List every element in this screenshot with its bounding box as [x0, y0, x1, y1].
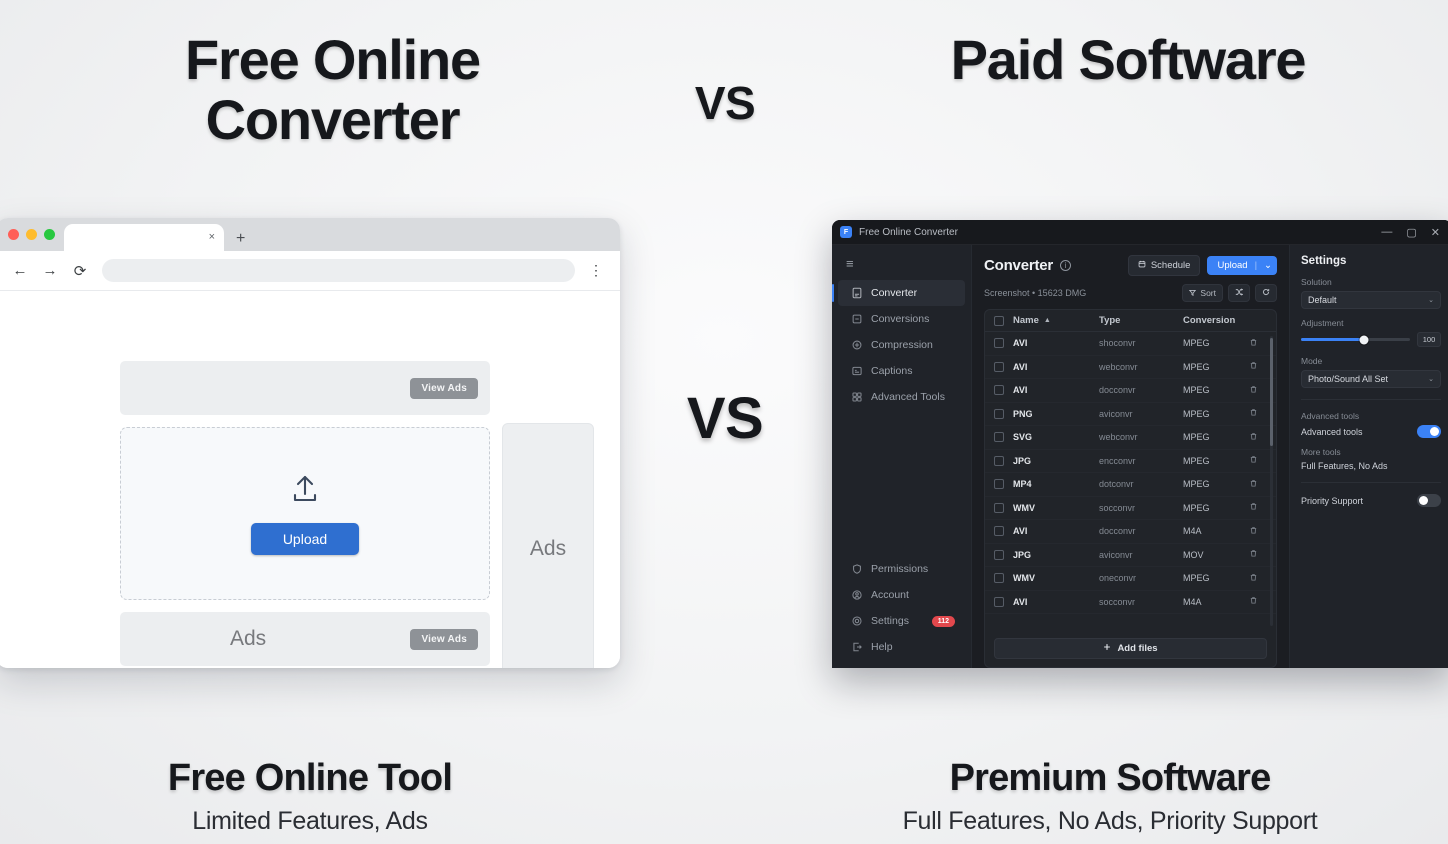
- caption-left: Free Online Tool Limited Features, Ads: [50, 757, 570, 836]
- minimize-icon[interactable]: —: [1381, 226, 1392, 239]
- button-divider: |: [1255, 260, 1257, 271]
- features-section-label: More tools: [1301, 447, 1441, 457]
- sidebar-item-conversions[interactable]: Conversions: [838, 306, 965, 332]
- cell-conversion: MPEG: [1183, 573, 1249, 583]
- settings-badge: 112: [932, 616, 955, 627]
- compress-icon: [850, 339, 863, 352]
- solution-label: Solution: [1301, 277, 1441, 287]
- shuffle-button[interactable]: [1228, 284, 1250, 302]
- sidebar-spacer: [832, 410, 971, 556]
- advanced-tools-toggle[interactable]: [1417, 425, 1441, 438]
- caption-right-title: Premium Software: [790, 757, 1430, 801]
- headline-right: Paid Software: [848, 30, 1408, 90]
- back-icon[interactable]: ←: [12, 262, 28, 279]
- column-header-conversion[interactable]: Conversion: [1183, 315, 1249, 326]
- cell-type: webconvr: [1099, 362, 1183, 372]
- trash-icon[interactable]: [1249, 338, 1267, 349]
- row-checkbox[interactable]: [994, 550, 1004, 560]
- new-tab-icon[interactable]: +: [236, 231, 245, 247]
- trash-icon[interactable]: [1249, 385, 1267, 396]
- sidebar-item-label: Compression: [871, 339, 933, 351]
- refresh-icon: [1262, 288, 1270, 298]
- chevron-down-icon: ⌄: [1428, 375, 1434, 383]
- column-header-name[interactable]: Name ▲: [1013, 315, 1099, 326]
- cell-name: AVI: [1013, 385, 1099, 395]
- cell-type: dotconvr: [1099, 479, 1183, 489]
- table-row[interactable]: JPGaviconvrMOV: [985, 544, 1276, 568]
- breadcrumb-row: Screenshot • 15623 DMG Sort: [972, 284, 1289, 309]
- caption-right-subtitle: Full Features, No Ads, Priority Support: [790, 807, 1430, 836]
- cell-name: WMV: [1013, 573, 1099, 583]
- app-window-title: Free Online Converter: [859, 227, 1374, 238]
- sidebar-item-label: Captions: [871, 365, 912, 377]
- cell-conversion: MPEG: [1183, 385, 1249, 395]
- table-row[interactable]: PNGaviconvrMPEG: [985, 403, 1276, 427]
- cell-conversion: MPEG: [1183, 456, 1249, 466]
- trash-icon[interactable]: [1249, 479, 1267, 490]
- table-row[interactable]: MP4dotconvrMPEG: [985, 473, 1276, 497]
- cell-name: WMV: [1013, 503, 1099, 513]
- cell-type: webconvr: [1099, 432, 1183, 442]
- cell-type: socconvr: [1099, 503, 1183, 513]
- table-row[interactable]: JPGencconvrMPEG: [985, 450, 1276, 474]
- row-checkbox[interactable]: [994, 409, 1004, 419]
- sidebar-item-label: Settings: [871, 615, 909, 627]
- cell-type: aviconvr: [1099, 409, 1183, 419]
- cell-conversion: MPEG: [1183, 338, 1249, 348]
- settings-title: Settings: [1301, 255, 1441, 267]
- sidebar-item-label: Permissions: [871, 563, 928, 575]
- headline-row: Free Online Converter VS Paid Software: [0, 0, 1448, 210]
- table-row[interactable]: SVGwebconvrMPEG: [985, 426, 1276, 450]
- trash-icon[interactable]: [1249, 432, 1267, 443]
- cell-type: socconvr: [1099, 597, 1183, 607]
- browser-tab[interactable]: ×: [64, 224, 224, 251]
- toggle-thumb: [1430, 427, 1439, 436]
- cell-name: JPG: [1013, 456, 1099, 466]
- settings-divider: [1301, 399, 1441, 400]
- row-checkbox[interactable]: [994, 338, 1004, 348]
- adjustment-label: Adjustment: [1301, 318, 1441, 328]
- table-row[interactable]: AVIdocconvrM4A: [985, 520, 1276, 544]
- sort-button-label: Sort: [1200, 288, 1216, 298]
- shield-icon: [850, 563, 863, 576]
- sidebar-item-compression[interactable]: Compression: [838, 332, 965, 358]
- upload-button[interactable]: Upload | ⌄: [1207, 256, 1277, 275]
- adjustment-field: Adjustment 100: [1301, 318, 1441, 347]
- app-sidebar: ≡ Converter Conversions: [832, 245, 972, 668]
- row-checkbox[interactable]: [994, 456, 1004, 466]
- adjustment-slider[interactable]: [1301, 338, 1410, 341]
- cell-name: MP4: [1013, 479, 1099, 489]
- vs-label-middle: VS: [640, 385, 810, 452]
- forward-icon[interactable]: →: [42, 262, 58, 279]
- cell-name: AVI: [1013, 597, 1099, 607]
- browser-page: View Ads Upload Ads View Ads Ads: [0, 291, 620, 668]
- cell-type: docconvr: [1099, 526, 1183, 536]
- mid-ad-banner: Ads View Ads: [120, 612, 490, 666]
- sidebar-item-help[interactable]: Help: [838, 634, 965, 660]
- sort-button[interactable]: Sort: [1182, 284, 1223, 302]
- filter-icon: [1189, 288, 1196, 298]
- reload-icon[interactable]: ⟳: [72, 262, 88, 280]
- sidebar-item-label: Conversions: [871, 313, 929, 325]
- advanced-tools-section: Advanced tools Advanced tools: [1301, 411, 1441, 438]
- table-rows: AVIshoconvrMPEGAVIwebconvrMPEGAVIdocconv…: [985, 332, 1276, 631]
- cell-name: SVG: [1013, 432, 1099, 442]
- mode-label: Mode: [1301, 356, 1441, 366]
- upload-button[interactable]: Upload: [251, 523, 359, 555]
- cell-conversion: M4A: [1183, 526, 1249, 536]
- side-ad-panel: Ads: [502, 423, 594, 668]
- cell-type: oneconvr: [1099, 573, 1183, 583]
- sidebar-item-label: Advanced Tools: [871, 391, 945, 403]
- hamburger-menu-icon[interactable]: ≡: [832, 252, 971, 280]
- cell-type: encconvr: [1099, 456, 1183, 466]
- toggle-thumb: [1419, 496, 1428, 505]
- sidebar-item-advanced-tools[interactable]: Advanced Tools: [838, 384, 965, 410]
- advanced-tools-label: Advanced tools: [1301, 427, 1363, 437]
- trash-icon[interactable]: [1249, 596, 1267, 607]
- row-checkbox[interactable]: [994, 385, 1004, 395]
- mode-value: Photo/Sound All Set: [1308, 374, 1388, 384]
- file-convert-icon: [850, 287, 863, 300]
- trash-icon[interactable]: [1249, 408, 1267, 419]
- sidebar-item-converter[interactable]: Converter: [838, 280, 965, 306]
- cell-name: PNG: [1013, 409, 1099, 419]
- maximize-icon[interactable]: ▢: [1406, 226, 1416, 239]
- cell-conversion: MOV: [1183, 550, 1249, 560]
- features-section: More tools Full Features, No Ads: [1301, 447, 1441, 471]
- grid-tools-icon: [850, 391, 863, 404]
- cell-conversion: M4A: [1183, 597, 1249, 607]
- sidebar-item-permissions[interactable]: Permissions: [838, 556, 965, 582]
- cell-conversion: MPEG: [1183, 409, 1249, 419]
- desktop-app-window: F Free Online Converter — ▢ ✕ ≡ Converte…: [832, 220, 1448, 668]
- headline-left: Free Online Converter: [60, 30, 605, 150]
- browser-toolbar: ← → ⟳ ⋮: [0, 251, 620, 291]
- table-row[interactable]: AVIwebconvrMPEG: [985, 356, 1276, 380]
- sidebar-item-captions[interactable]: Captions: [838, 358, 965, 384]
- cell-name: AVI: [1013, 338, 1099, 348]
- mid-ad-label: Ads: [230, 627, 266, 651]
- files-table: Name ▲ Type Conversion AVIshoconvrMPEGAV…: [984, 309, 1277, 668]
- trash-icon[interactable]: [1249, 573, 1267, 584]
- mid-ad-button[interactable]: View Ads: [410, 629, 478, 650]
- mode-field: Mode Photo/Sound All Set ⌄: [1301, 356, 1441, 388]
- trash-icon[interactable]: [1249, 502, 1267, 513]
- browser-menu-icon[interactable]: ⋮: [589, 262, 604, 279]
- table-row[interactable]: AVIdocconvrMPEG: [985, 379, 1276, 403]
- cell-type: shoconvr: [1099, 338, 1183, 348]
- adjustment-value[interactable]: 100: [1417, 332, 1441, 347]
- row-checkbox[interactable]: [994, 479, 1004, 489]
- refresh-button[interactable]: [1255, 284, 1277, 302]
- schedule-button-label: Schedule: [1151, 260, 1191, 271]
- app-body: ≡ Converter Conversions: [832, 245, 1448, 668]
- page-main-column: View Ads Upload Ads View Ads: [120, 361, 490, 668]
- chevron-down-icon[interactable]: ⌄: [1264, 260, 1272, 271]
- upload-button-label: Upload: [1217, 260, 1247, 271]
- address-bar[interactable]: [102, 259, 575, 282]
- calendar-icon: [1138, 260, 1146, 271]
- mode-select[interactable]: Photo/Sound All Set ⌄: [1301, 370, 1441, 388]
- priority-support-label: Priority Support: [1301, 496, 1363, 506]
- row-checkbox[interactable]: [994, 432, 1004, 442]
- add-files-label: Add files: [1117, 643, 1157, 654]
- solution-field: Solution Default ⌄: [1301, 277, 1441, 309]
- table-row[interactable]: AVIshoconvrMPEG: [985, 332, 1276, 356]
- sidebar-item-settings[interactable]: Settings 112: [838, 608, 965, 634]
- add-files-button[interactable]: Add files: [994, 638, 1267, 659]
- chevron-down-icon: ⌄: [1428, 296, 1434, 304]
- cell-conversion: MPEG: [1183, 503, 1249, 513]
- sidebar-item-label: Account: [871, 589, 909, 601]
- advanced-tools-row: Advanced tools: [1301, 425, 1441, 438]
- sidebar-item-label: Converter: [871, 287, 917, 299]
- trash-icon[interactable]: [1249, 549, 1267, 560]
- close-icon[interactable]: ✕: [1431, 226, 1440, 239]
- app-logo-icon: F: [840, 226, 852, 238]
- solution-value: Default: [1308, 295, 1337, 305]
- browser-window: × + ← → ⟳ ⋮ View Ads Upload: [0, 218, 620, 668]
- solution-select[interactable]: Default ⌄: [1301, 291, 1441, 309]
- row-checkbox[interactable]: [994, 573, 1004, 583]
- cell-name: JPG: [1013, 550, 1099, 560]
- window-controls: — ▢ ✕: [1381, 226, 1444, 239]
- table-row[interactable]: WMVsocconvrMPEG: [985, 497, 1276, 521]
- upload-dropzone[interactable]: Upload: [120, 427, 490, 600]
- info-icon[interactable]: i: [1060, 260, 1071, 271]
- sidebar-item-label: Help: [871, 641, 893, 653]
- plus-icon: [1103, 643, 1111, 654]
- table-toolbar: Sort: [1182, 284, 1277, 302]
- zoom-window-dot[interactable]: [44, 229, 55, 240]
- cell-name: AVI: [1013, 526, 1099, 536]
- table-scrollbar-thumb[interactable]: [1270, 338, 1273, 446]
- help-icon: [850, 641, 863, 654]
- cell-name: AVI: [1013, 362, 1099, 372]
- cell-conversion: MPEG: [1183, 479, 1249, 489]
- app-title-bar: F Free Online Converter — ▢ ✕: [832, 220, 1448, 245]
- vs-label-top: VS: [640, 76, 810, 130]
- schedule-button[interactable]: Schedule: [1128, 255, 1201, 276]
- sort-caret-icon: ▲: [1044, 317, 1051, 324]
- adjustment-slider-row: 100: [1301, 332, 1441, 347]
- breadcrumb: Screenshot • 15623 DMG: [984, 288, 1086, 298]
- page-title: Converter: [984, 257, 1053, 274]
- row-checkbox[interactable]: [994, 526, 1004, 536]
- priority-support-row: Priority Support: [1301, 494, 1441, 507]
- traffic-lights: [4, 218, 64, 251]
- caption-left-subtitle: Limited Features, Ads: [50, 807, 570, 836]
- row-checkbox[interactable]: [994, 503, 1004, 513]
- user-icon: [850, 589, 863, 602]
- column-header-name-label: Name: [1013, 315, 1039, 326]
- features-text: Full Features, No Ads: [1301, 461, 1441, 471]
- row-checkbox[interactable]: [994, 597, 1004, 607]
- cell-type: docconvr: [1099, 385, 1183, 395]
- cell-type: aviconvr: [1099, 550, 1183, 560]
- top-ad-button[interactable]: View Ads: [410, 378, 478, 399]
- column-header-type[interactable]: Type: [1099, 315, 1183, 326]
- browser-tab-bar: × +: [0, 218, 620, 251]
- settings-panel: Settings Solution Default ⌄ Adjustment 1…: [1289, 245, 1448, 668]
- cell-conversion: MPEG: [1183, 432, 1249, 442]
- table-row[interactable]: AVIsocconvrM4A: [985, 591, 1276, 615]
- captions-icon: [850, 365, 863, 378]
- trash-icon[interactable]: [1249, 455, 1267, 466]
- side-ad-label: Ads: [530, 537, 566, 561]
- minimize-window-dot[interactable]: [26, 229, 37, 240]
- row-checkbox[interactable]: [994, 362, 1004, 372]
- close-window-dot[interactable]: [8, 229, 19, 240]
- shuffle-icon: [1235, 288, 1243, 298]
- slider-fill: [1301, 338, 1364, 341]
- top-ad-banner: View Ads: [120, 361, 490, 415]
- table-row[interactable]: WMVoneconvrMPEG: [985, 567, 1276, 591]
- close-tab-icon[interactable]: ×: [209, 232, 215, 243]
- advanced-section-label: Advanced tools: [1301, 411, 1441, 421]
- settings-divider-2: [1301, 482, 1441, 483]
- trash-icon[interactable]: [1249, 361, 1267, 372]
- trash-icon[interactable]: [1249, 526, 1267, 537]
- select-all-checkbox[interactable]: [994, 316, 1004, 326]
- table-header-row: Name ▲ Type Conversion: [985, 310, 1276, 332]
- app-main: Converter i Schedule Upload |: [972, 245, 1289, 668]
- priority-support-toggle[interactable]: [1417, 494, 1441, 507]
- header-actions: Schedule Upload | ⌄: [1128, 255, 1277, 276]
- caption-left-title: Free Online Tool: [50, 757, 570, 801]
- caption-right: Premium Software Full Features, No Ads, …: [790, 757, 1430, 836]
- main-header: Converter i Schedule Upload |: [972, 245, 1289, 284]
- upload-icon: [288, 473, 322, 505]
- sidebar-item-account[interactable]: Account: [838, 582, 965, 608]
- cell-conversion: MPEG: [1183, 362, 1249, 372]
- slider-handle[interactable]: [1360, 335, 1369, 344]
- gear-icon: [850, 615, 863, 628]
- documents-icon: [850, 313, 863, 326]
